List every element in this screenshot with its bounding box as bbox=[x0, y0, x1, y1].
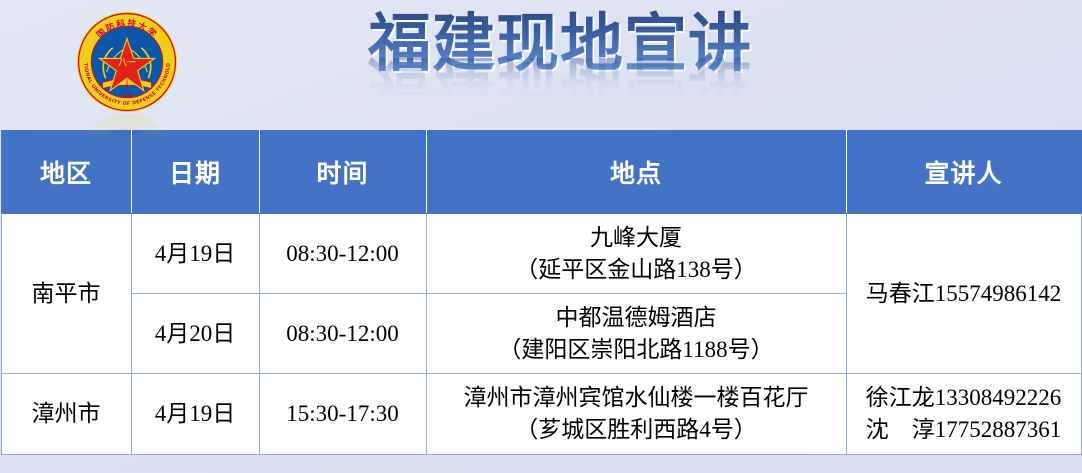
cell-region: 南平市 bbox=[1, 214, 131, 374]
place-line-1: 九峰大厦 bbox=[427, 222, 846, 254]
cell-time: 15:30-17:30 bbox=[259, 374, 426, 455]
svg-text:1953: 1953 bbox=[120, 94, 135, 100]
place-line-1: 中都温德姆酒店 bbox=[427, 302, 846, 334]
speaker-line-1: 徐江龙13308492226 bbox=[847, 382, 1081, 414]
column-header-place: 地点 bbox=[426, 131, 846, 214]
place-line-1: 漳州市漳州宾馆水仙楼一楼百花厅 bbox=[427, 382, 846, 414]
place-line-2: （延平区金山路138号） bbox=[427, 254, 846, 286]
place-line-2: （建阳区崇阳北路1188号） bbox=[427, 334, 846, 366]
speaker-line-2: 沈 淳17752887361 bbox=[847, 414, 1081, 446]
cell-place: 九峰大厦 （延平区金山路138号） bbox=[426, 214, 846, 294]
cell-date: 4月20日 bbox=[131, 294, 259, 374]
cell-date: 4月19日 bbox=[131, 214, 259, 294]
table-row: 南平市 4月19日 08:30-12:00 九峰大厦 （延平区金山路138号） … bbox=[1, 214, 1081, 294]
table-row: 漳州市 4月19日 15:30-17:30 漳州市漳州宾馆水仙楼一楼百花厅 （芗… bbox=[1, 374, 1081, 455]
cell-date: 4月19日 bbox=[131, 374, 259, 455]
poster-root: 八一 国防科技大学 NATIONAL UNIVERSITY OF DEFENSE… bbox=[0, 0, 1082, 473]
cell-time: 08:30-12:00 bbox=[259, 294, 426, 374]
column-header-time: 时间 bbox=[259, 131, 426, 214]
cell-region: 漳州市 bbox=[1, 374, 131, 455]
cell-speaker: 马春江15574986142 bbox=[846, 214, 1081, 374]
cell-time: 08:30-12:00 bbox=[259, 214, 426, 294]
nudt-emblem-icon: 八一 国防科技大学 NATIONAL UNIVERSITY OF DEFENSE… bbox=[76, 11, 178, 113]
place-line-2: （芗城区胜利西路4号） bbox=[427, 414, 846, 446]
column-header-date: 日期 bbox=[131, 131, 259, 214]
page-title: 福建现地宣讲 bbox=[300, 8, 820, 80]
speaker-line-1: 马春江15574986142 bbox=[847, 278, 1081, 310]
cell-speaker: 徐江龙13308492226 沈 淳17752887361 bbox=[846, 374, 1081, 455]
column-header-region: 地区 bbox=[1, 131, 131, 214]
schedule-table: 地区 日期 时间 地点 宣讲人 南平市 4月19日 08:30-12:00 九峰… bbox=[1, 130, 1082, 455]
cell-place: 中都温德姆酒店 （建阳区崇阳北路1188号） bbox=[426, 294, 846, 374]
cell-place: 漳州市漳州宾馆水仙楼一楼百花厅 （芗城区胜利西路4号） bbox=[426, 374, 846, 455]
table-header-row: 地区 日期 时间 地点 宣讲人 bbox=[1, 131, 1081, 214]
svg-text:八一: 八一 bbox=[117, 57, 136, 68]
title-block: 福建现地宣讲 福建现地宣讲 bbox=[300, 8, 820, 130]
poster-header: 八一 国防科技大学 NATIONAL UNIVERSITY OF DEFENSE… bbox=[0, 0, 1082, 130]
column-header-speaker: 宣讲人 bbox=[846, 131, 1081, 214]
